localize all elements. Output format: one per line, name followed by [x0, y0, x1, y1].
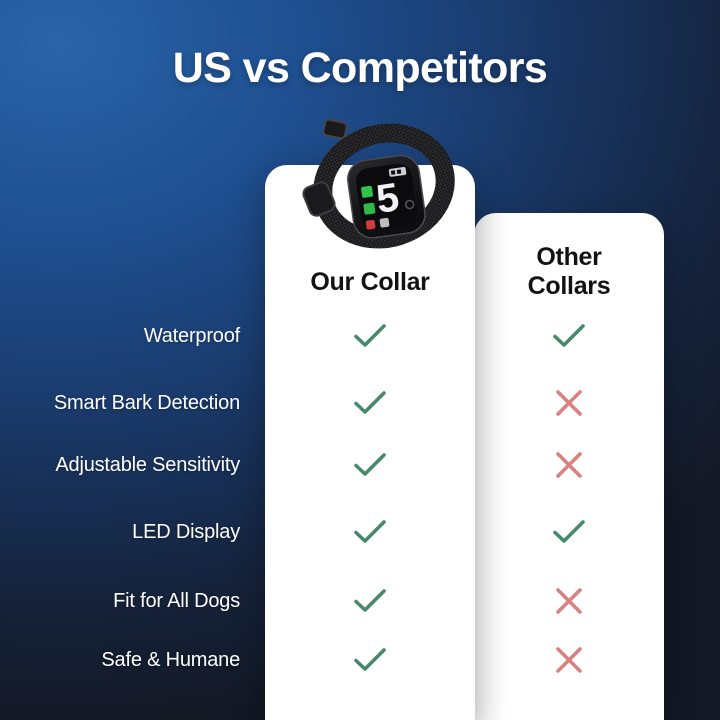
column-header-other-collars: Other Collars [474, 243, 664, 300]
check-icon [539, 512, 599, 552]
feature-row: Fit for All Dogs [0, 581, 720, 621]
feature-label: Fit for All Dogs [0, 581, 240, 621]
cross-icon [539, 640, 599, 680]
cross-icon [539, 383, 599, 423]
cross-icon [539, 445, 599, 485]
feature-label: LED Display [0, 512, 240, 552]
check-icon [340, 445, 400, 485]
feature-label: Waterproof [0, 316, 240, 356]
feature-row: Waterproof [0, 316, 720, 356]
other-collars-line1: Other [536, 243, 601, 271]
feature-row: Adjustable Sensitivity [0, 445, 720, 485]
check-icon [340, 640, 400, 680]
check-icon [539, 316, 599, 356]
feature-label: Smart Bark Detection [0, 383, 240, 423]
check-icon [340, 581, 400, 621]
page-title: US vs Competitors [0, 44, 720, 93]
other-collars-line2: Collars [528, 272, 611, 300]
feature-row: Smart Bark Detection [0, 383, 720, 423]
comparison-infographic: US vs Competitors Our Collar Other Colla… [0, 0, 720, 720]
feature-label: Safe & Humane [0, 640, 240, 680]
check-icon [340, 512, 400, 552]
feature-row: Safe & Humane [0, 640, 720, 680]
column-header-our-collar: Our Collar [265, 268, 475, 297]
cross-icon [539, 581, 599, 621]
our-collar-card [265, 165, 475, 720]
feature-row: LED Display [0, 512, 720, 552]
check-icon [340, 383, 400, 423]
feature-label: Adjustable Sensitivity [0, 445, 240, 485]
check-icon [340, 316, 400, 356]
